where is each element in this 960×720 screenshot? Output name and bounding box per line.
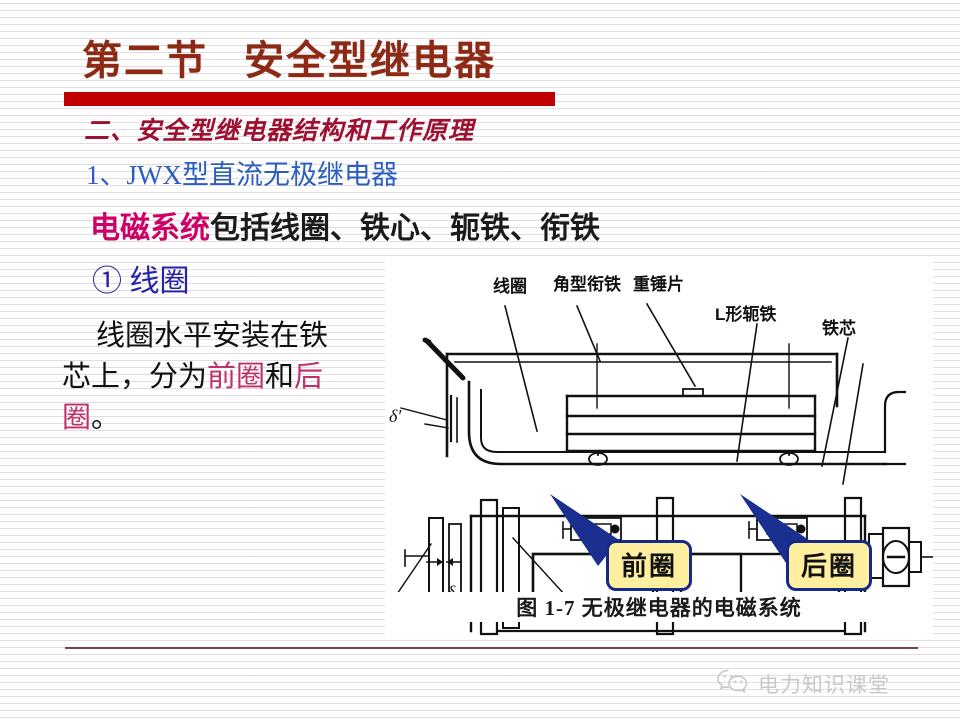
callout-back-coil: 后圈: [786, 540, 872, 591]
body-back-coil-keyword-part1: 后: [294, 361, 323, 393]
slide-canvas: 第二节 安全型继电器 二、安全型继电器结构和工作原理 1、JWX型直流无极继电器…: [0, 0, 960, 720]
title-underline-bar: [64, 92, 555, 106]
electromagnetic-system-detail: 包括线圈、铁心、轭铁、衔铁: [210, 212, 600, 245]
body-line-2: 芯上，分为前圈和后: [62, 357, 382, 398]
body-line-1: 线圈水平安装在铁: [62, 316, 382, 357]
page-title: 第二节 安全型继电器: [82, 28, 496, 86]
section-heading-2: 二、安全型继电器结构和工作原理: [84, 111, 474, 147]
body-back-coil-keyword-part2: 圈: [62, 402, 91, 434]
section-heading-3: 1、JWX型直流无极继电器: [86, 153, 398, 192]
figure-label-coil: 线圈: [493, 276, 527, 296]
figure-label-weight-plate: 重锤片: [633, 274, 684, 294]
body-line-3: 圈。: [62, 398, 382, 439]
body-front-coil-keyword: 前圈: [207, 361, 265, 393]
figure-caption: 图 1-7 无极继电器的电磁系统: [385, 592, 933, 622]
body-line-1-text: 线圈水平安装在铁: [62, 320, 328, 352]
callout-front-coil: 前圈: [606, 540, 692, 591]
wechat-icon: [716, 668, 750, 700]
footer-divider: [65, 647, 918, 649]
body-line-3-period: 。: [91, 402, 120, 434]
electromagnetic-system-line: 电磁系统包括线圈、铁心、轭铁、衔铁: [90, 203, 600, 247]
body-line-2-mid: 和: [265, 361, 294, 393]
body-line-2-pre: 芯上，分为: [62, 361, 207, 393]
watermark: 电力知识课堂: [716, 668, 890, 700]
watermark-label: 电力知识课堂: [758, 669, 890, 699]
figure-label-l-yoke: L形轭铁: [715, 304, 776, 324]
figure-label-delta-prime: δ′: [389, 406, 402, 426]
body-paragraph: 线圈水平安装在铁 芯上，分为前圈和后 圈。: [62, 316, 382, 440]
electromagnetic-system-keyword: 电磁系统: [90, 212, 210, 245]
figure-label-angle-armature: 角型衔铁: [553, 274, 621, 294]
list-item-coil-heading: ① 线圈: [92, 256, 190, 300]
figure-label-core-top: 铁芯: [822, 318, 856, 338]
